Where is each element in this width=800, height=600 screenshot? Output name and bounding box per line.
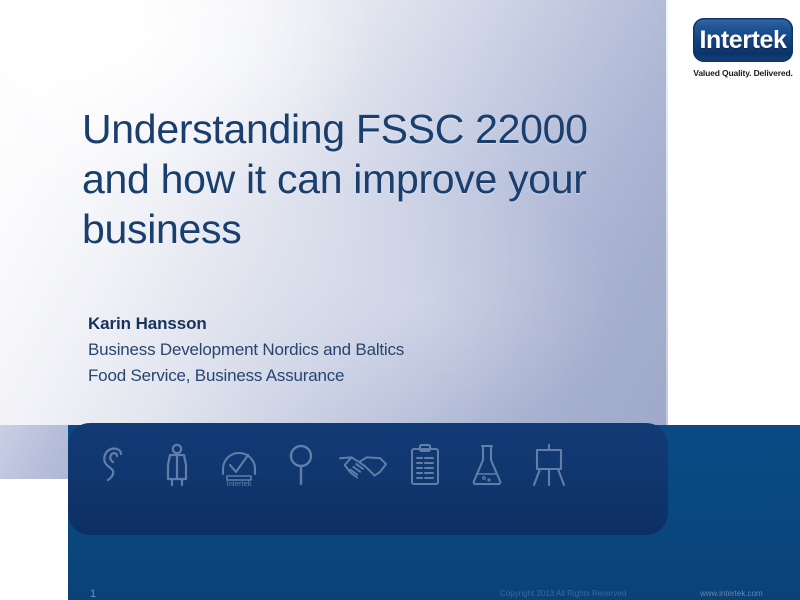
icon-panel: Intertek [68, 423, 668, 535]
slide-title-line-2: and how it can improve your [82, 154, 642, 204]
presentation-slide: Intertek Valued Quality. Delivered. Unde… [0, 0, 800, 600]
panel-right-edge [666, 0, 669, 425]
slide-title-line-3: business [82, 204, 642, 254]
easel-flipchart-icon [524, 439, 574, 491]
presenter-role: Business Development Nordics and Baltics [88, 337, 608, 363]
handshake-icon [338, 439, 388, 491]
intertek-certification-mark-icon: Intertek [214, 439, 264, 491]
presenter-block: Karin Hansson Business Development Nordi… [88, 311, 608, 389]
magnifying-glass-icon [276, 439, 326, 491]
intertek-logo-badge: Intertek [693, 18, 793, 62]
svg-text:Intertek: Intertek [226, 479, 251, 487]
intertek-tagline: Valued Quality. Delivered. [690, 68, 796, 78]
erlenmeyer-flask-icon [462, 439, 512, 491]
slide-title-line-1: Understanding FSSC 22000 [82, 104, 642, 154]
website-url: www.intertek.com [700, 589, 763, 598]
clipboard-checklist-icon [400, 439, 450, 491]
ear-icon [90, 439, 140, 491]
lab-coat-person-icon [152, 439, 202, 491]
intertek-logo: Intertek Valued Quality. Delivered. [690, 18, 796, 78]
service-icon-strip: Intertek [90, 439, 574, 491]
page-number: 1 [90, 588, 96, 600]
footer-left-gradient-cap [0, 425, 68, 479]
presenter-name: Karin Hansson [88, 311, 608, 337]
presenter-department: Food Service, Business Assurance [88, 363, 608, 389]
slide-title: Understanding FSSC 22000 and how it can … [82, 104, 642, 254]
intertek-logo-text: Intertek [699, 28, 786, 53]
copyright-text: Copyright 2013 All Rights Reserved [500, 589, 626, 598]
slide-footer: 1 Copyright 2013 All Rights Reserved www… [0, 588, 800, 600]
